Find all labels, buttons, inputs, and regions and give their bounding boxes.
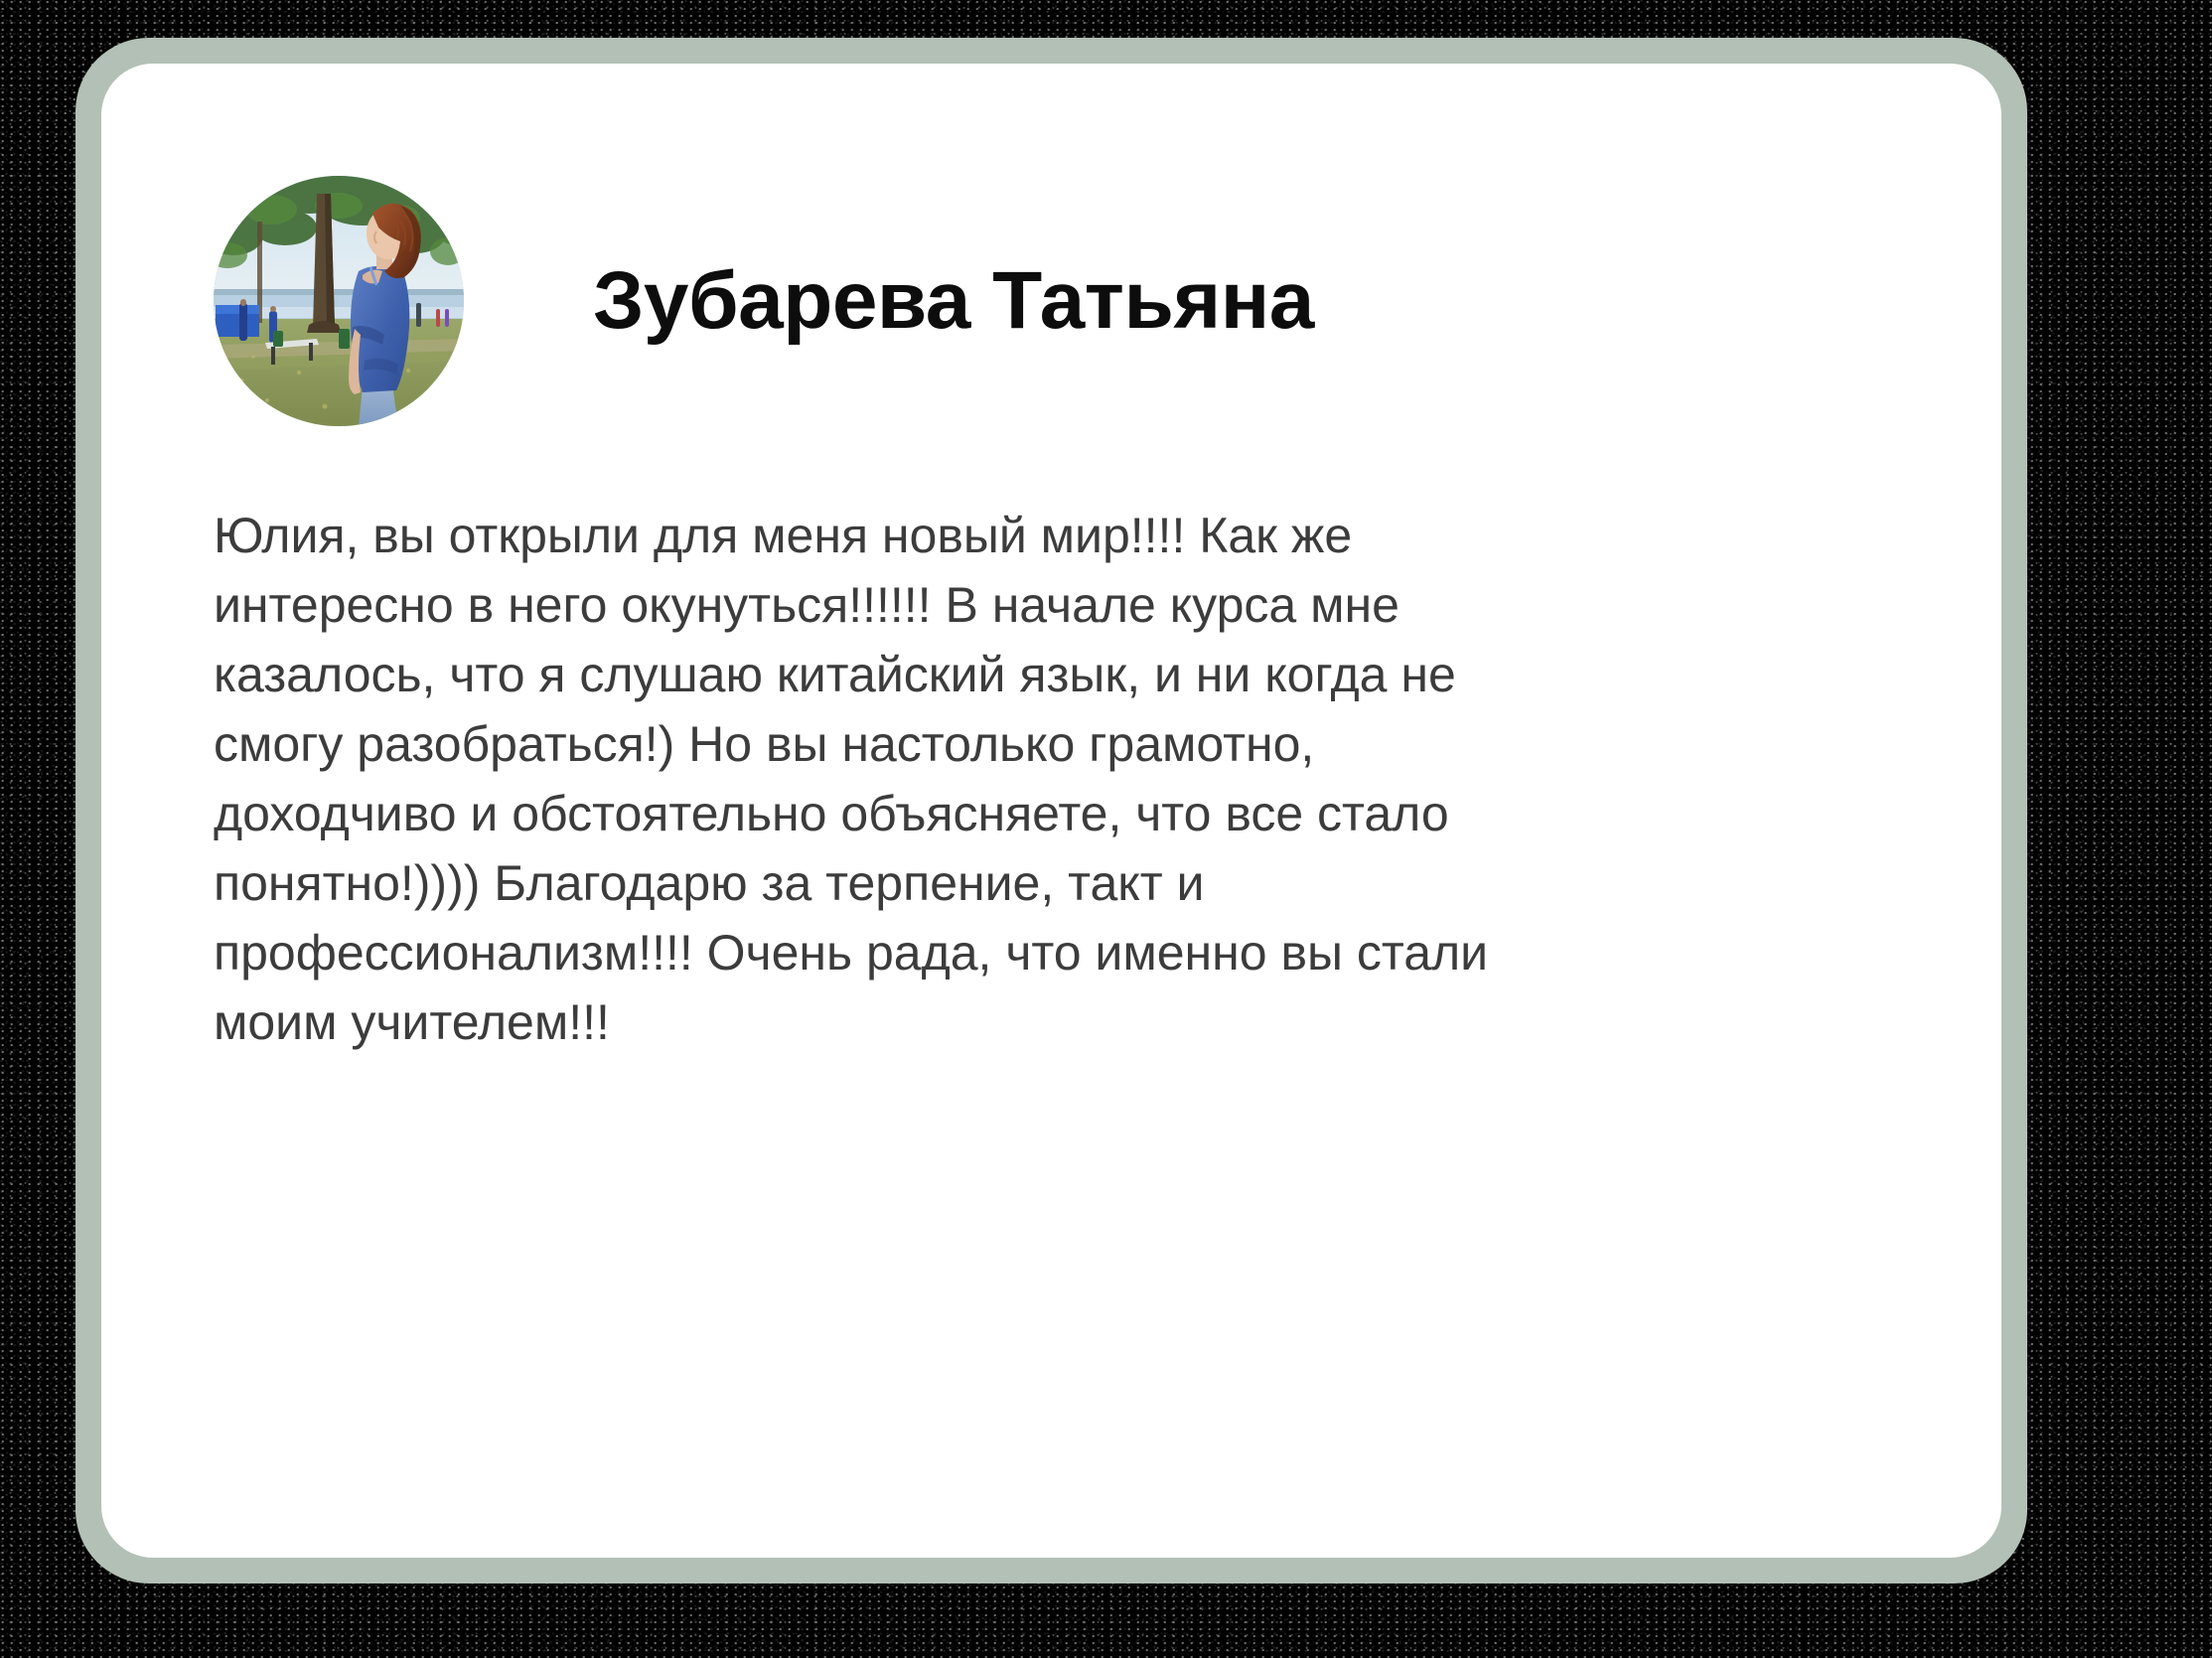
testimonial-card: Зубарева Татьяна Юлия, вы открыли для ме…	[101, 64, 2001, 1558]
page-title: Зубарева Татьяна	[593, 260, 1314, 342]
testimonial-card-frame: Зубарева Татьяна Юлия, вы открыли для ме…	[75, 38, 2027, 1583]
avatar-photo-icon	[214, 176, 464, 426]
testimonial-body: Юлия, вы открыли для меня новый мир!!!! …	[214, 501, 1525, 1057]
testimonial-header: Зубарева Татьяна	[214, 176, 1892, 426]
avatar	[214, 176, 464, 426]
